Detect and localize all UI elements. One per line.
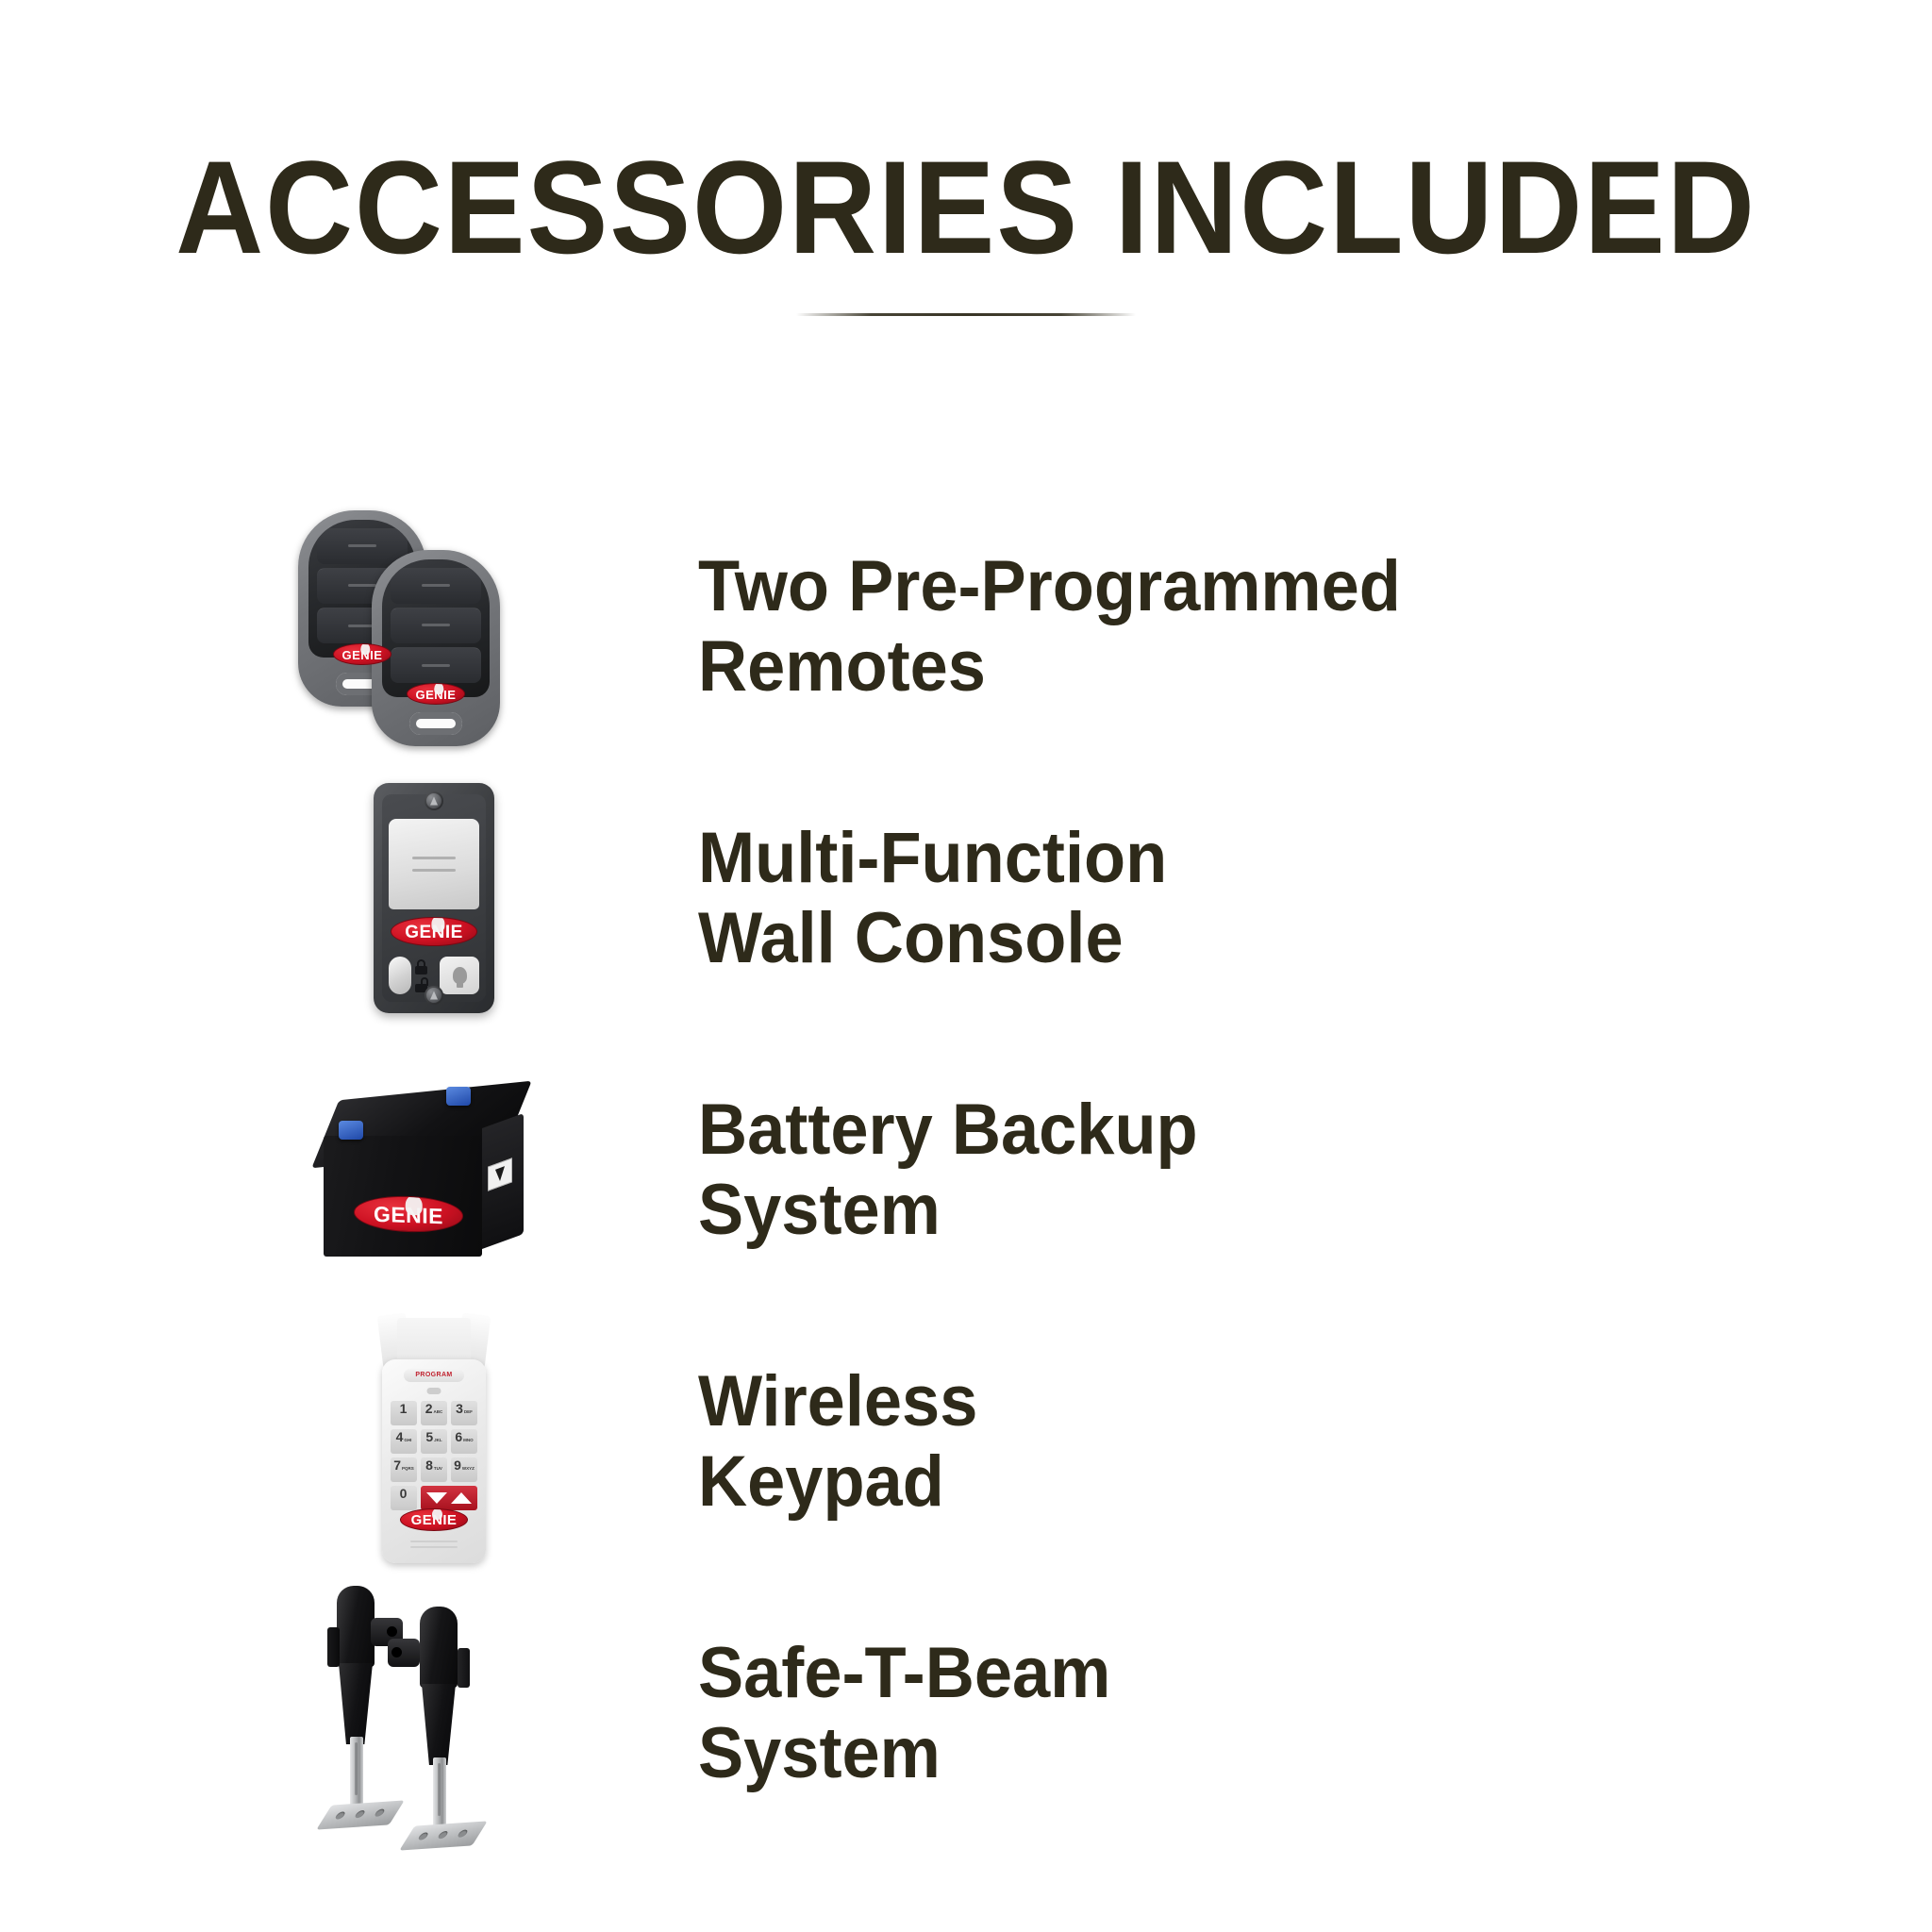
genie-logo: GENIE bbox=[391, 917, 477, 946]
door-button bbox=[389, 819, 479, 909]
program-button: PROGRAM bbox=[404, 1369, 464, 1382]
key-6: 6MNO bbox=[451, 1429, 477, 1454]
genie-logo: GENIE bbox=[400, 1508, 468, 1531]
battery-terminal-icon bbox=[446, 1087, 471, 1106]
remote-control-pair-icon: GENIE GENIE bbox=[236, 491, 632, 762]
list-item-label: Safe-T-Beam System bbox=[698, 1633, 1110, 1793]
genie-logo: GENIE bbox=[333, 643, 391, 665]
accessories-infographic: ACCESSORIES INCLUDED GENIE bbox=[0, 0, 1932, 1932]
key-2: 2ABC bbox=[421, 1401, 447, 1425]
list-item-remotes: GENIE GENIE bbox=[0, 491, 1932, 762]
accessories-list: GENIE GENIE bbox=[0, 491, 1932, 1849]
rocker-switch bbox=[389, 957, 411, 994]
screw-icon bbox=[425, 791, 443, 810]
screw-icon bbox=[425, 986, 443, 1005]
list-item-wireless-keypad: PROGRAM 1 2ABC 3DEF 4GHI 5JKL 6MNO 7PQRS… bbox=[0, 1306, 1932, 1577]
key-1: 1 bbox=[391, 1401, 417, 1425]
key-4: 4GHI bbox=[391, 1429, 417, 1454]
mounting-bracket bbox=[399, 1821, 487, 1850]
list-item-label: Two Pre-Programmed Remotes bbox=[698, 546, 1401, 707]
mounting-post bbox=[433, 1757, 446, 1829]
key-0: 0 bbox=[391, 1486, 417, 1510]
genie-logo: GENIE bbox=[407, 683, 465, 705]
vent-lines bbox=[410, 1541, 458, 1552]
list-item-label: Multi-Function Wall Console bbox=[698, 818, 1167, 978]
safe-t-beam-sensors-icon bbox=[236, 1577, 632, 1849]
mounting-post bbox=[350, 1737, 363, 1808]
wall-console-icon: GENIE bbox=[236, 762, 632, 1034]
list-item-safe-t-beam: Safe-T-Beam System bbox=[0, 1577, 1932, 1849]
page-title: ACCESSORIES INCLUDED bbox=[77, 142, 1855, 274]
list-item-battery-backup: GENIE Battery Backup System bbox=[0, 1034, 1932, 1306]
key-5: 5JKL bbox=[421, 1429, 447, 1454]
key-7: 7PQRS bbox=[391, 1457, 417, 1482]
remote-front: GENIE bbox=[372, 550, 500, 746]
sensor-left bbox=[324, 1586, 405, 1831]
key-8: 8TUV bbox=[421, 1457, 447, 1482]
header: ACCESSORIES INCLUDED bbox=[0, 142, 1932, 316]
title-divider bbox=[796, 313, 1136, 316]
keypad-keys: 1 2ABC 3DEF 4GHI 5JKL 6MNO 7PQRS 8TUV 9W… bbox=[391, 1401, 477, 1510]
arrow-down-icon bbox=[426, 1492, 447, 1504]
key-3: 3DEF bbox=[451, 1401, 477, 1425]
key-open-close-arrows bbox=[421, 1486, 477, 1510]
sensor-right bbox=[407, 1607, 488, 1852]
status-led-icon bbox=[427, 1388, 441, 1394]
lock-closed-icon bbox=[415, 959, 427, 974]
wireless-keypad-icon: PROGRAM 1 2ABC 3DEF 4GHI 5JKL 6MNO 7PQRS… bbox=[236, 1306, 632, 1577]
keyring-loop bbox=[409, 712, 462, 735]
arrow-up-icon bbox=[451, 1492, 472, 1504]
mounting-bracket bbox=[316, 1800, 404, 1829]
sensor-lens-icon bbox=[388, 1639, 420, 1667]
list-item-label: Battery Backup System bbox=[698, 1090, 1198, 1250]
light-button bbox=[440, 957, 479, 994]
battery-backup-icon: GENIE bbox=[236, 1034, 632, 1306]
key-9: 9WXYZ bbox=[451, 1457, 477, 1482]
list-item-label: Wireless Keypad bbox=[698, 1361, 977, 1522]
light-bulb-icon bbox=[453, 967, 467, 984]
battery-terminal-icon bbox=[339, 1121, 363, 1140]
list-item-wall-console: GENIE bbox=[0, 762, 1932, 1034]
